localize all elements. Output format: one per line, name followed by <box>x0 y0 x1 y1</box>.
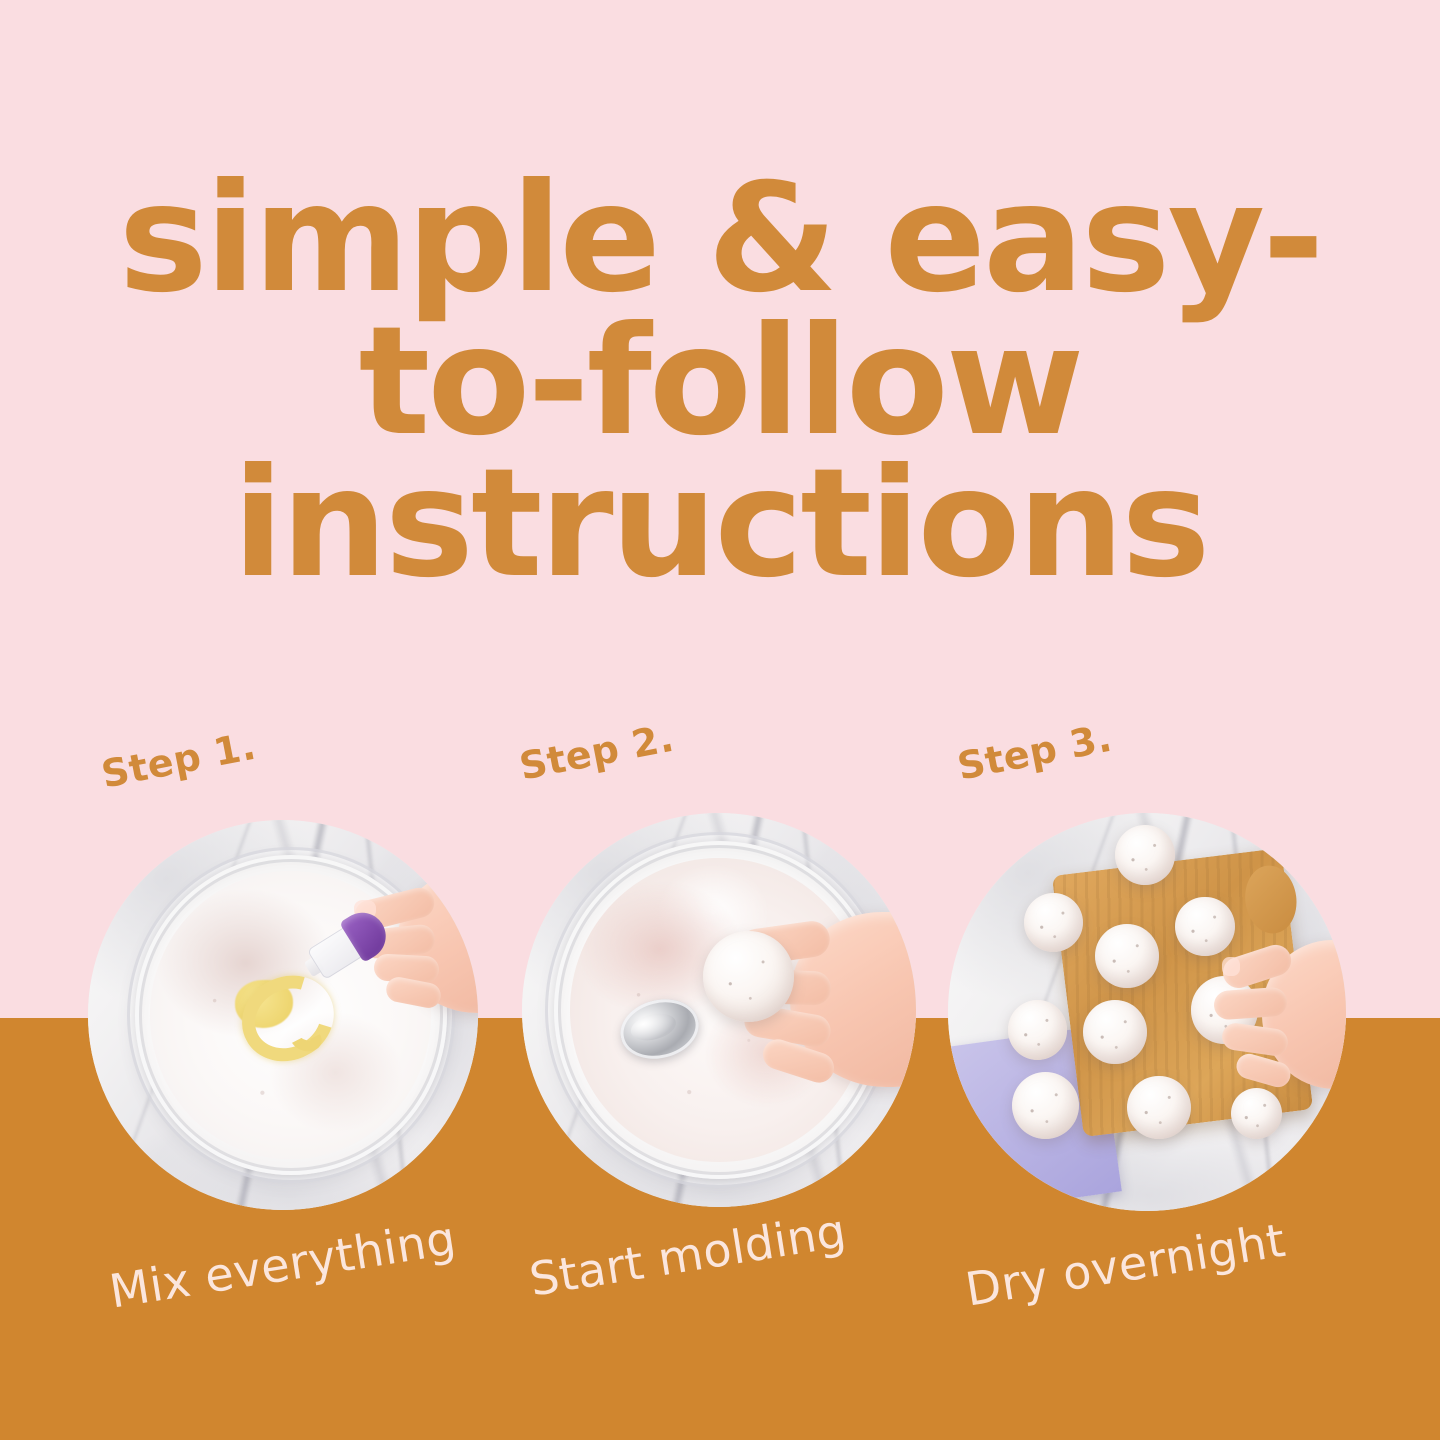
step-1-photo <box>88 820 478 1210</box>
bath-bomb-icon <box>703 931 794 1022</box>
step-card-2: Step 2. <box>488 745 928 1385</box>
oil-swirl-icon <box>241 977 335 1060</box>
steps-row: Step 1. <box>0 0 1440 1440</box>
bath-bomb-icon <box>1024 893 1084 953</box>
bath-bomb-icon <box>1115 825 1175 885</box>
bath-bomb-icon <box>1012 1072 1080 1140</box>
poster-canvas: simple & easy- to-follow instructions St… <box>0 0 1440 1440</box>
bath-bomb-icon <box>1008 1000 1068 1060</box>
step-3-caption: Dry overnight <box>962 1213 1289 1317</box>
step-card-1: Step 1. <box>58 745 498 1385</box>
step-1-caption: Mix everything <box>106 1211 460 1319</box>
bath-bomb-icon <box>1083 1000 1147 1064</box>
step-1-label: Step 1. <box>98 724 260 797</box>
step-card-3: Step 3. <box>928 745 1368 1385</box>
hand-placing-bath-bomb-icon <box>1211 924 1346 1115</box>
step-2-label: Step 2. <box>516 716 678 789</box>
step-2-photo <box>522 813 916 1207</box>
bath-bomb-icon <box>1127 1076 1191 1140</box>
step-2-caption: Start molding <box>526 1203 850 1306</box>
step-3-photo <box>948 813 1346 1211</box>
bath-bomb-icon <box>1095 924 1159 988</box>
step-3-label: Step 3. <box>954 716 1116 789</box>
